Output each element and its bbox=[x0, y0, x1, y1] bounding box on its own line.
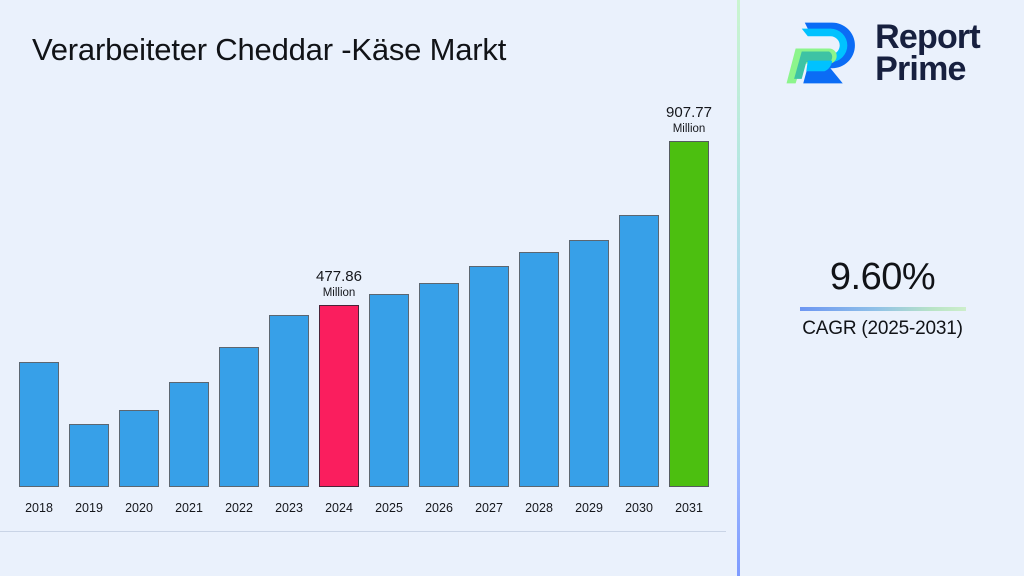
bar-group-2019: 2019 bbox=[69, 424, 109, 487]
bar-group-2031: 907.77Million2031 bbox=[669, 141, 709, 487]
bar-value-unit-2024: Million bbox=[316, 286, 362, 301]
bar-group-2018: 2018 bbox=[19, 362, 59, 487]
bar-2028[interactable] bbox=[519, 252, 559, 487]
bar-value-number-2031: 907.77 bbox=[666, 103, 712, 122]
x-axis-label-2021: 2021 bbox=[175, 501, 203, 515]
bar-2022[interactable] bbox=[219, 347, 259, 487]
bar-2026[interactable] bbox=[419, 283, 459, 487]
bar-2030[interactable] bbox=[619, 215, 659, 487]
brand-name: Report Prime bbox=[875, 21, 980, 86]
bar-group-2024: 477.86Million2024 bbox=[319, 305, 359, 487]
bar-2018[interactable] bbox=[19, 362, 59, 487]
bar-group-2029: 2029 bbox=[569, 240, 609, 487]
bar-value-label-2024: 477.86Million bbox=[316, 267, 362, 301]
bar-group-2023: 2023 bbox=[269, 315, 309, 487]
x-axis-label-2018: 2018 bbox=[25, 501, 53, 515]
bar-group-2021: 2021 bbox=[169, 382, 209, 487]
chart-panel: Verarbeiteter Cheddar -Käse Markt 201820… bbox=[0, 0, 738, 576]
brand-logo: Report Prime bbox=[741, 10, 1024, 96]
x-axis-label-2027: 2027 bbox=[475, 501, 503, 515]
x-axis-label-2030: 2030 bbox=[625, 501, 653, 515]
x-axis-label-2022: 2022 bbox=[225, 501, 253, 515]
x-axis-label-2020: 2020 bbox=[125, 501, 153, 515]
bar-group-2030: 2030 bbox=[619, 215, 659, 487]
bar-2027[interactable] bbox=[469, 266, 509, 487]
x-axis-label-2031: 2031 bbox=[675, 501, 703, 515]
x-axis-label-2019: 2019 bbox=[75, 501, 103, 515]
bar-value-number-2024: 477.86 bbox=[316, 267, 362, 286]
brand-name-line1: Report bbox=[875, 21, 980, 53]
bar-2020[interactable] bbox=[119, 410, 159, 487]
bar-2024[interactable] bbox=[319, 305, 359, 487]
bar-2019[interactable] bbox=[69, 424, 109, 487]
x-axis-label-2026: 2026 bbox=[425, 501, 453, 515]
bar-2023[interactable] bbox=[269, 315, 309, 487]
infographic-canvas: Verarbeiteter Cheddar -Käse Markt 201820… bbox=[0, 0, 1024, 576]
cagr-caption: CAGR (2025-2031) bbox=[741, 317, 1024, 341]
bar-chart: 201820192020202120222023477.86Million202… bbox=[0, 120, 738, 532]
bar-value-label-2031: 907.77Million bbox=[666, 103, 712, 137]
bar-2025[interactable] bbox=[369, 294, 409, 487]
x-axis-line bbox=[0, 531, 726, 532]
bar-2021[interactable] bbox=[169, 382, 209, 487]
bar-group-2027: 2027 bbox=[469, 266, 509, 487]
bar-2031[interactable] bbox=[669, 141, 709, 487]
bar-group-2022: 2022 bbox=[219, 347, 259, 487]
bar-group-2025: 2025 bbox=[369, 294, 409, 487]
bar-group-2026: 2026 bbox=[419, 283, 459, 487]
report-prime-r-logo-icon bbox=[785, 18, 861, 88]
x-axis-label-2029: 2029 bbox=[575, 501, 603, 515]
cagr-divider-rule bbox=[800, 307, 966, 311]
cagr-value: 9.60% bbox=[741, 253, 1024, 301]
x-axis-label-2025: 2025 bbox=[375, 501, 403, 515]
x-axis-label-2028: 2028 bbox=[525, 501, 553, 515]
summary-panel: Report Prime 9.60% CAGR (2025-2031) bbox=[741, 0, 1024, 576]
x-axis-label-2023: 2023 bbox=[275, 501, 303, 515]
bar-group-2028: 2028 bbox=[519, 252, 559, 487]
x-axis-label-2024: 2024 bbox=[325, 501, 353, 515]
brand-name-line2: Prime bbox=[875, 53, 980, 85]
panel-divider bbox=[737, 0, 740, 576]
bar-group-2020: 2020 bbox=[119, 410, 159, 487]
bar-2029[interactable] bbox=[569, 240, 609, 487]
cagr-block: 9.60% CAGR (2025-2031) bbox=[741, 253, 1024, 341]
page-title: Verarbeiteter Cheddar -Käse Markt bbox=[32, 32, 506, 68]
bar-value-unit-2031: Million bbox=[666, 122, 712, 137]
